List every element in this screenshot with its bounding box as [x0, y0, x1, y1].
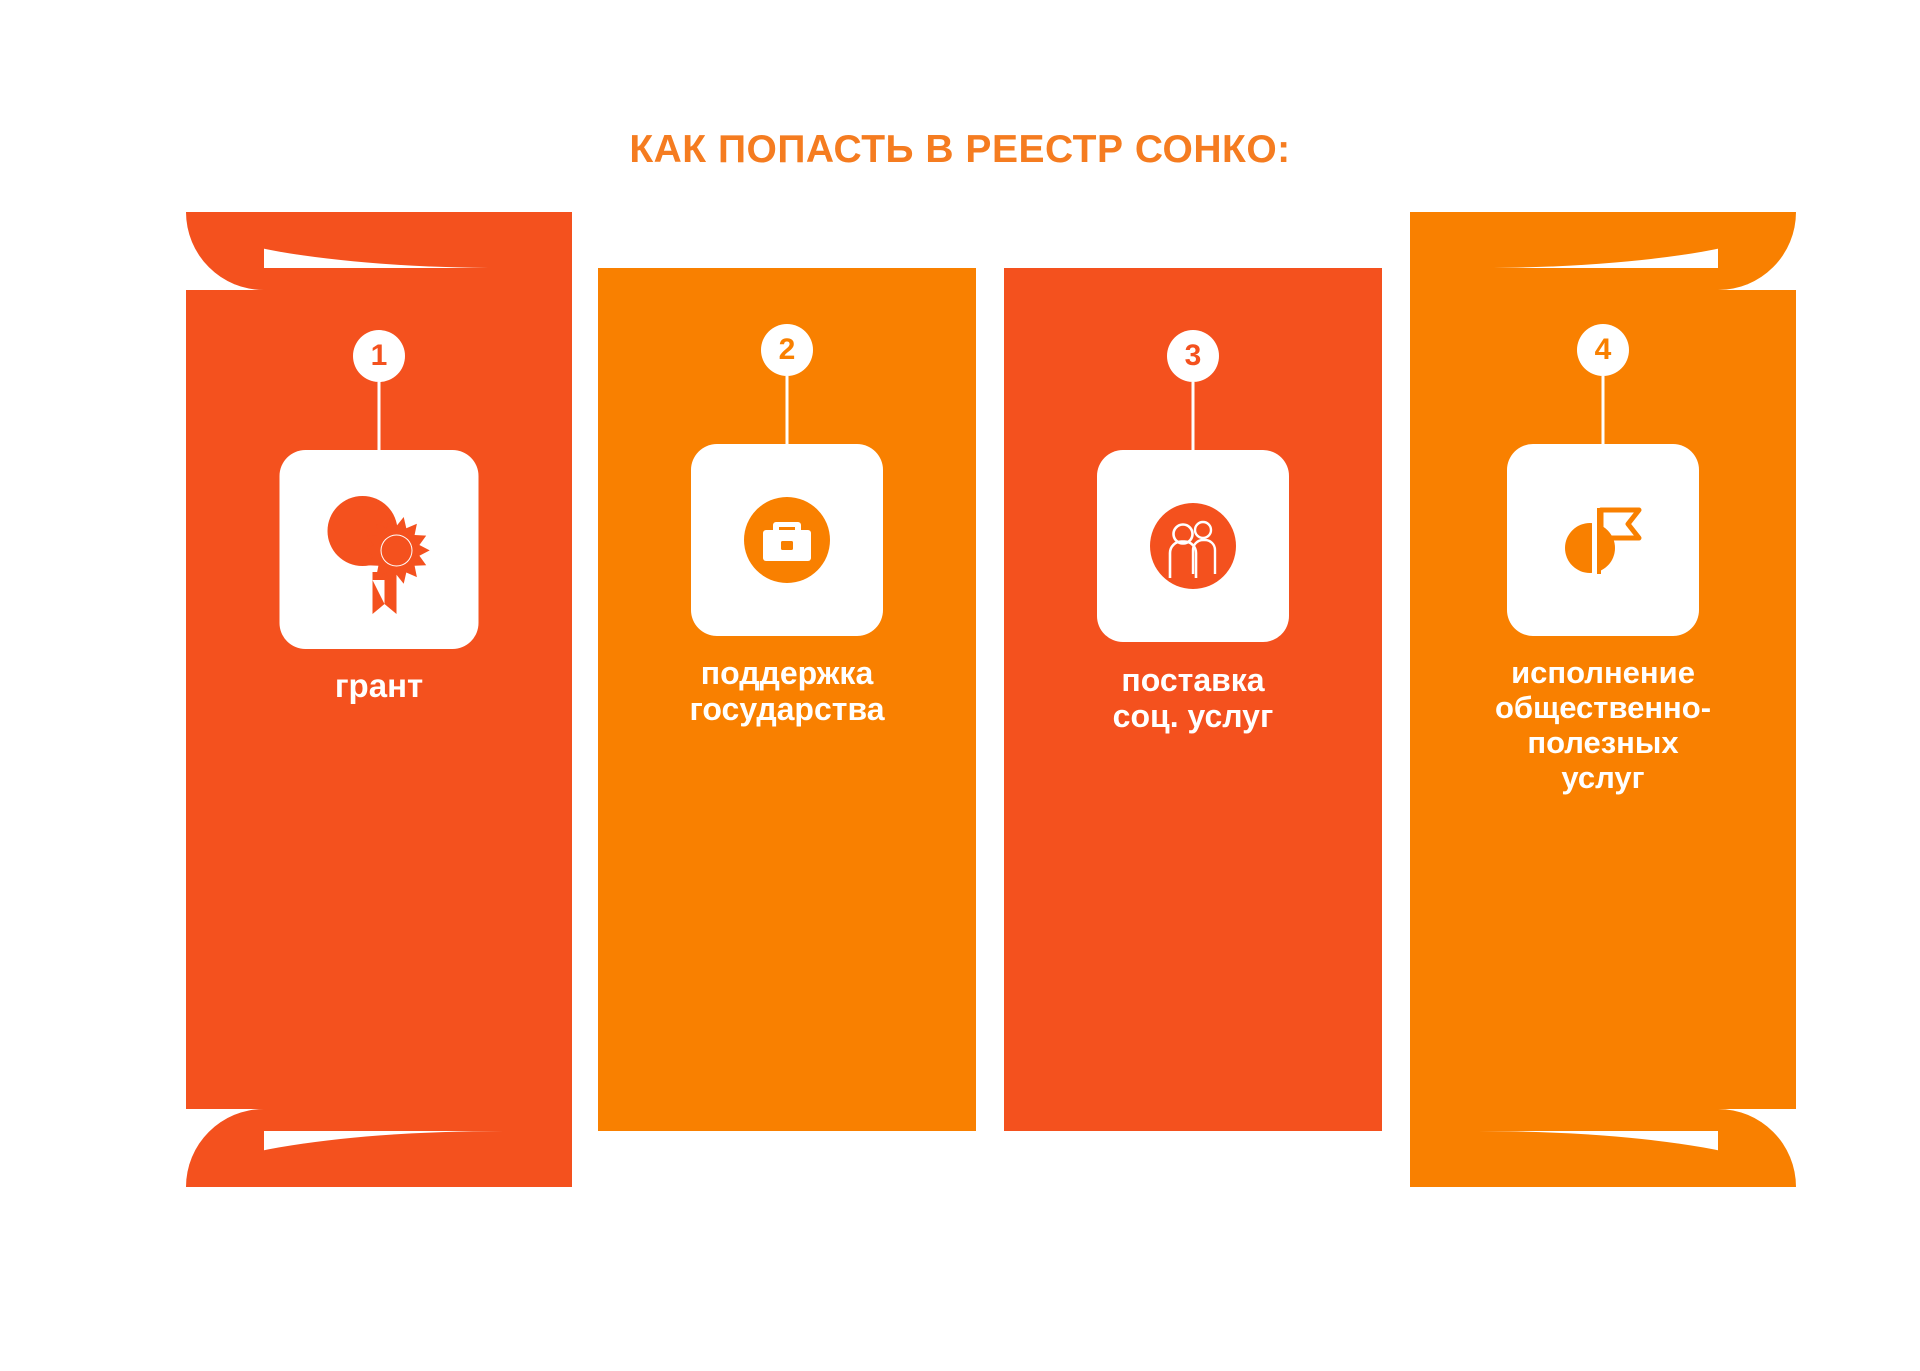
icon-tile-4[interactable] — [1507, 444, 1699, 636]
flag-pie-icon — [1548, 488, 1658, 592]
icon-tile-1[interactable] — [280, 450, 479, 649]
icon-tile-2[interactable] — [691, 444, 883, 636]
step-number-badge-3: 3 — [1167, 330, 1219, 382]
step-label-3: поставка соц. услуг — [985, 662, 1401, 734]
step-label-4: исполнение общественно- полезных услуг — [1362, 655, 1845, 795]
step-label-2: поддержка государства — [579, 655, 995, 727]
step-card-2[interactable]: 2 поддержка государства — [598, 212, 976, 1187]
badge-connector-line-4 — [1602, 376, 1605, 444]
step-number-badge-4: 4 — [1577, 324, 1629, 376]
step-number-badge-2: 2 — [761, 324, 813, 376]
steps-container: 1 грант — [186, 212, 1766, 1187]
badge-connector-line-1 — [378, 382, 381, 450]
step-card-1[interactable]: 1 грант — [186, 212, 572, 1187]
step-number-badge-1: 1 — [353, 330, 405, 382]
award-ribbon-icon — [314, 480, 444, 620]
badge-connector-line-3 — [1192, 382, 1195, 450]
step-card-3[interactable]: 3 поставка соц. услуг — [1004, 212, 1382, 1187]
step-label-1: грант — [167, 667, 592, 704]
icon-tile-3[interactable] — [1097, 450, 1289, 642]
infographic-canvas: КАК ПОПАСТЬ В РЕЕСТР СОНКО: 1 — [0, 0, 1920, 1371]
briefcase-circle-icon — [735, 488, 839, 592]
step-card-4[interactable]: 4 исполнение общественно- п — [1410, 212, 1796, 1187]
two-people-circle-icon — [1141, 494, 1245, 598]
badge-connector-line-2 — [786, 376, 789, 444]
page-title: КАК ПОПАСТЬ В РЕЕСТР СОНКО: — [0, 128, 1920, 172]
